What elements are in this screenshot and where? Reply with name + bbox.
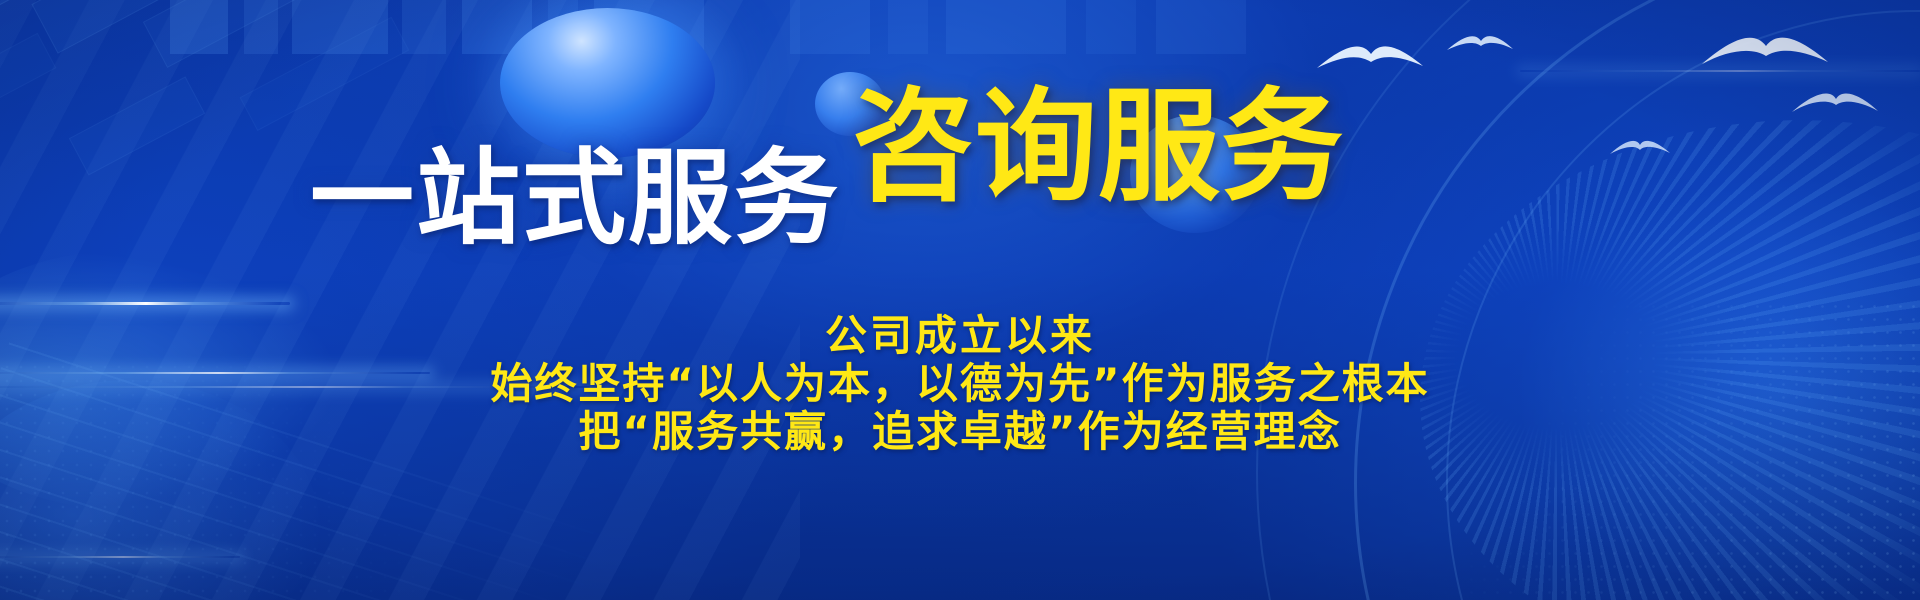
light-streak bbox=[0, 372, 430, 374]
sphere-shape bbox=[500, 8, 715, 158]
circuit-dot-grid-right bbox=[1400, 300, 1920, 600]
body-copy-group: 公司成立以来 始终坚持“以人为本，以德为先”作为服务之根本 把“服务共赢，追求卓… bbox=[0, 312, 1920, 456]
background-decoration-layer bbox=[0, 0, 1920, 600]
sphere-glow bbox=[460, 0, 760, 220]
body-line-1: 公司成立以来 bbox=[0, 312, 1920, 360]
headline-white-text: 一站式服务 bbox=[310, 146, 840, 250]
vignette-overlay bbox=[0, 0, 1920, 600]
promo-banner: 一站式服务 咨询服务 公司成立以来 始终坚持“以人为本，以德为先”作为服务之根本… bbox=[0, 0, 1920, 600]
seagull-icon bbox=[1445, 30, 1515, 58]
light-streak bbox=[0, 556, 240, 558]
light-streak bbox=[0, 386, 590, 388]
glow-bloom-left bbox=[0, 250, 340, 510]
arc-decoration-mid bbox=[1354, 0, 1920, 600]
top-ticker-bars-right bbox=[790, 0, 1430, 54]
seagull-icon bbox=[1790, 86, 1880, 120]
radiating-fan-pattern bbox=[1420, 120, 1920, 600]
light-streak bbox=[1520, 70, 1920, 72]
seagull-icon bbox=[1700, 28, 1830, 76]
arc-decoration-inner bbox=[1446, 10, 1920, 600]
diagonal-slab-pattern bbox=[0, 0, 685, 331]
circuit-dot-grid-left bbox=[0, 360, 520, 600]
small-sphere-left bbox=[815, 72, 885, 136]
headline-yellow-text: 咨询服务 bbox=[852, 86, 1344, 208]
light-streak bbox=[0, 302, 290, 305]
seagull-icon bbox=[1608, 135, 1672, 161]
body-line-2: 始终坚持“以人为本，以德为先”作为服务之根本 bbox=[0, 360, 1920, 408]
glow-bloom-bottom-left bbox=[0, 380, 320, 600]
arc-decoration-outer bbox=[1256, 0, 1920, 600]
headline-group: 一站式服务 咨询服务 bbox=[0, 86, 1920, 208]
top-ticker-bars bbox=[170, 0, 770, 54]
small-sphere-right bbox=[1130, 115, 1260, 233]
diagonal-sheen-pattern bbox=[0, 0, 800, 600]
bottom-left-line-bundle bbox=[0, 341, 733, 600]
body-line-3: 把“服务共赢，追求卓越”作为经营理念 bbox=[0, 408, 1920, 456]
glow-bloom-right bbox=[1520, 180, 1920, 600]
seagull-icon bbox=[1315, 38, 1425, 78]
